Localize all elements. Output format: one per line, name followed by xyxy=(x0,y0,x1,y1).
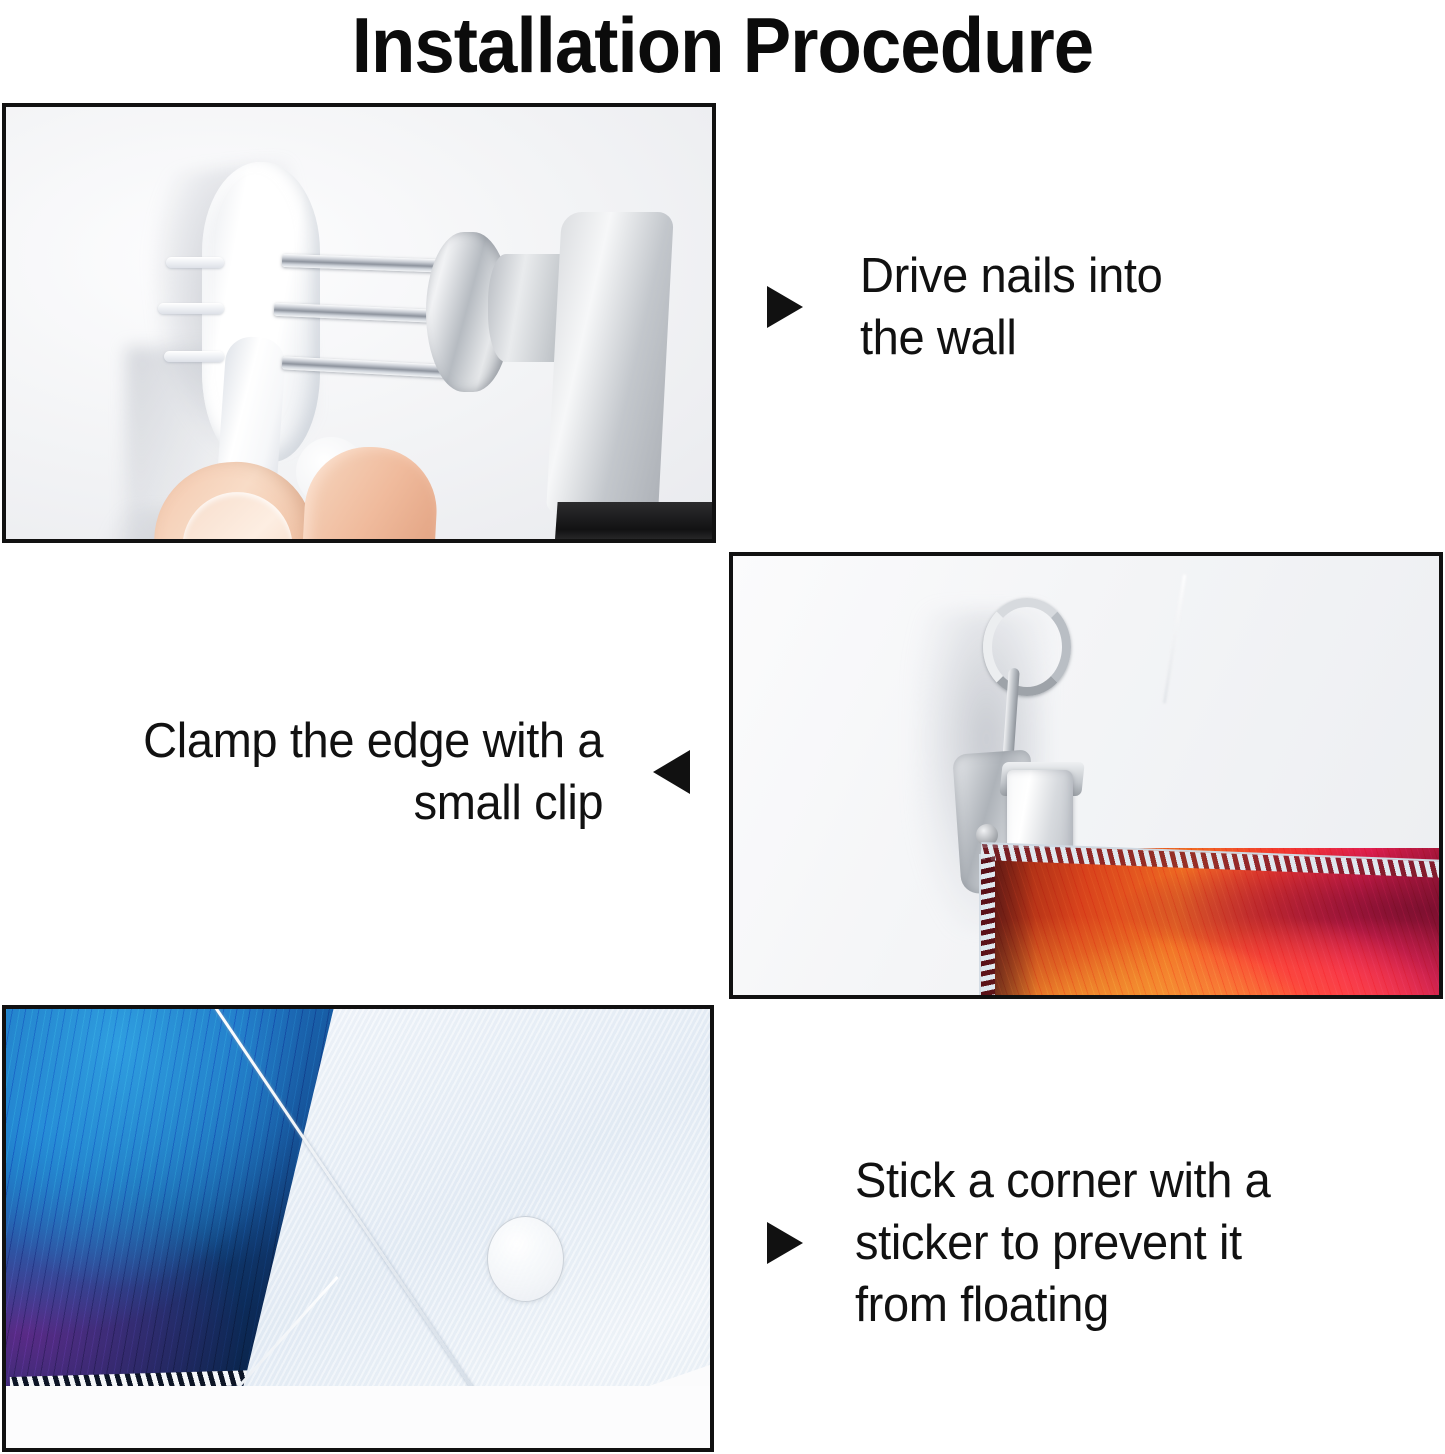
step-1-caption-line-2: the wall xyxy=(860,307,1162,369)
hammer-collar xyxy=(554,502,716,543)
step-2-caption-line-1: Clamp the edge with a xyxy=(143,710,603,772)
step-3-caption-line-2: sticker to prevent it xyxy=(855,1212,1270,1274)
triangle-left-icon xyxy=(653,750,690,794)
step-3: Stick a corner with a sticker to prevent… xyxy=(767,1150,1407,1336)
stitched-hem-left xyxy=(979,854,995,999)
scene-clamp-clip xyxy=(733,556,1439,995)
hook-rib-3 xyxy=(164,351,224,362)
step-3-caption-line-1: Stick a corner with a xyxy=(855,1150,1270,1212)
step-1-caption: Drive nails into the wall xyxy=(860,245,1162,369)
photo-clamp-clip xyxy=(729,552,1443,999)
step-2-caption: Clamp the edge with a small clip xyxy=(143,710,603,834)
step-2: Clamp the edge with a small clip xyxy=(70,710,690,834)
page-title: Installation Procedure xyxy=(51,2,1395,88)
step-1: Drive nails into the wall xyxy=(767,245,1387,369)
triangle-right-icon xyxy=(767,1222,803,1264)
photo-corner-sticker xyxy=(2,1005,714,1452)
hammer-claw xyxy=(546,212,674,512)
triangle-right-icon xyxy=(767,286,803,328)
wall-strip-bottom xyxy=(6,1386,714,1448)
adhesive-sticker xyxy=(487,1216,564,1302)
step-1-caption-line-1: Drive nails into xyxy=(860,245,1162,307)
step-3-caption: Stick a corner with a sticker to prevent… xyxy=(855,1150,1270,1336)
scene-drive-nails xyxy=(6,107,712,539)
photo-drive-nails xyxy=(2,103,716,543)
ring-hook-icon xyxy=(983,598,1071,696)
hammer-head xyxy=(426,212,641,402)
step-2-caption-line-2: small clip xyxy=(143,772,603,834)
hook-rib-1 xyxy=(166,257,224,268)
step-3-caption-line-3: from floating xyxy=(855,1274,1270,1336)
scene-corner-sticker xyxy=(6,1009,710,1448)
hook-rib-2 xyxy=(158,303,224,314)
